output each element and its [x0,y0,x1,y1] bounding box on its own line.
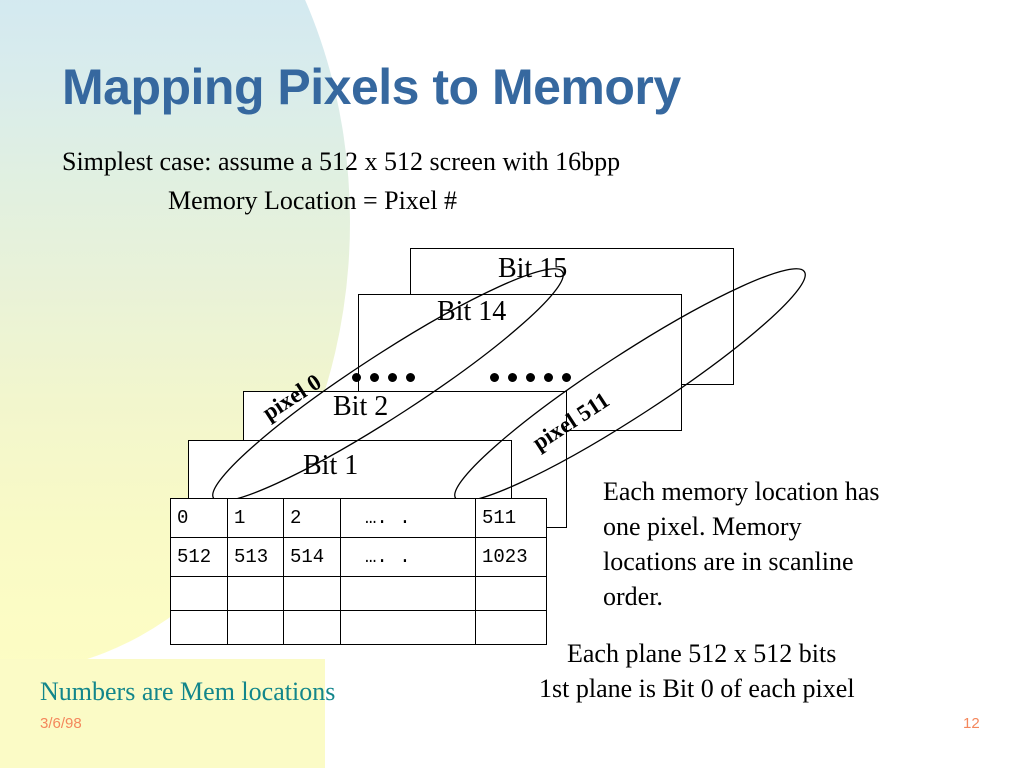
table-cell: 0 [171,499,228,538]
memory-note-line: order. [603,579,880,614]
ellipsis-dot [562,373,571,382]
ellipsis-dot [490,373,499,382]
table-cell [171,611,228,645]
table-cell [476,577,547,611]
table-cell: 2 [284,499,341,538]
table-row [171,611,547,645]
table-cell: …. . [341,499,476,538]
first-plane-note: 1st plane is Bit 0 of each pixel [539,671,855,706]
memory-note-line: one pixel. Memory [603,509,880,544]
table-row: 0 1 2 …. . 511 [171,499,547,538]
table-cell: …. . [341,538,476,577]
table-cell [171,577,228,611]
table-cell [341,577,476,611]
ellipsis-dot [388,373,397,382]
ellipsis-dot [370,373,379,382]
table-row: 512 513 514 …. . 1023 [171,538,547,577]
slide-date: 3/6/98 [40,715,82,732]
table-cell [341,611,476,645]
table-cell [228,611,284,645]
ellipsis-dot [352,373,361,382]
ellipsis-dot [508,373,517,382]
bit-plane-2-label: Bit 2 [333,391,388,423]
table-cell: 1 [228,499,284,538]
table-row [171,577,547,611]
table-cell: 511 [476,499,547,538]
memory-note-block: Each memory location has one pixel. Memo… [603,474,880,614]
ellipsis-dot [544,373,553,382]
table-cell [284,611,341,645]
memory-note-line: locations are in scanline [603,544,880,579]
table-cell: 1023 [476,538,547,577]
memory-location-table: 0 1 2 …. . 511 512 513 514 …. . 1023 [170,498,547,645]
table-cell: 513 [228,538,284,577]
table-cell [284,577,341,611]
table-cell: 512 [171,538,228,577]
bit-plane-14-label: Bit 14 [437,296,506,328]
memory-note-line: Each memory location has [603,474,880,509]
bit-plane-diagram: Bit 15 Bit 14 Bit 2 Bit 1 pixel 0 pixel … [0,0,1024,768]
ellipsis-dot [406,373,415,382]
table-cell [228,577,284,611]
plane-size-note: Each plane 512 x 512 bits [567,636,836,671]
bit-plane-1-label: Bit 1 [303,450,358,482]
slide-caption: Numbers are Mem locations [40,677,335,707]
page-number: 12 [963,715,980,732]
table-cell [476,611,547,645]
table-cell: 514 [284,538,341,577]
ellipsis-dot [526,373,535,382]
slide-canvas: Mapping Pixels to Memory Simplest case: … [0,0,1024,768]
bit-plane-15-label: Bit 15 [498,253,567,285]
